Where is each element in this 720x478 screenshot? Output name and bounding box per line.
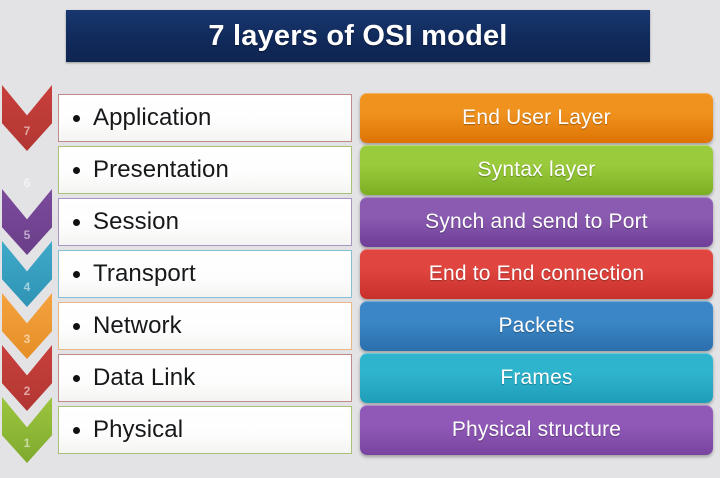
layer-description-label: Syntax layer	[478, 158, 596, 182]
layer-name-plate[interactable]: Physical	[58, 406, 352, 454]
layer-description-label: Frames	[500, 366, 572, 390]
layer-description-pill[interactable]: Physical structure	[360, 405, 713, 455]
layer-name-label: Application	[93, 104, 212, 132]
layer-name-plate[interactable]: Application	[58, 94, 352, 142]
layer-row: 4TransportEnd to End connection	[0, 249, 720, 301]
layer-description-pill[interactable]: Frames	[360, 353, 713, 403]
layer-row: 3NetworkPackets	[0, 301, 720, 353]
layer-name-plate[interactable]: Presentation	[58, 146, 352, 194]
layer-row: 7ApplicationEnd User Layer	[0, 93, 720, 145]
layer-description-label: End to End connection	[429, 262, 645, 286]
bullet-icon	[73, 323, 80, 330]
bullet-icon	[73, 375, 80, 382]
layer-description-label: End User Layer	[462, 106, 611, 130]
layer-name-label: Network	[93, 312, 182, 340]
osi-model-diagram: 7 layers of OSI model 7ApplicationEnd Us…	[0, 0, 720, 478]
layer-description-label: Synch and send to Port	[425, 210, 648, 234]
layer-number: 4	[24, 281, 31, 293]
layer-description-label: Physical structure	[452, 418, 621, 442]
layer-name-label: Presentation	[93, 156, 229, 184]
layer-number: 1	[24, 437, 31, 449]
layer-name-label: Session	[93, 208, 179, 236]
bullet-icon	[73, 167, 80, 174]
layer-name-label: Physical	[93, 416, 183, 444]
layer-name-label: Transport	[93, 260, 196, 288]
layer-description-pill[interactable]: Synch and send to Port	[360, 197, 713, 247]
layer-row: 5SessionSynch and send to Port	[0, 197, 720, 249]
layer-description-label: Packets	[498, 314, 574, 338]
layer-row: 2Data LinkFrames	[0, 353, 720, 405]
layer-row: 1PhysicalPhysical structure	[0, 405, 720, 457]
page-title: 7 layers of OSI model	[208, 20, 507, 53]
layer-row: 6PresentationSyntax layer	[0, 145, 720, 197]
layer-name-plate[interactable]: Network	[58, 302, 352, 350]
layer-number: 3	[24, 333, 31, 345]
bullet-icon	[73, 219, 80, 226]
layer-number: 2	[24, 385, 31, 397]
layer-name-label: Data Link	[93, 364, 195, 392]
layer-name-plate[interactable]: Session	[58, 198, 352, 246]
bullet-icon	[73, 427, 80, 434]
layer-name-plate[interactable]: Data Link	[58, 354, 352, 402]
title-bar: 7 layers of OSI model	[66, 10, 650, 62]
layer-chevron-7: 7	[2, 85, 52, 151]
bullet-icon	[73, 271, 80, 278]
layer-description-pill[interactable]: Syntax layer	[360, 145, 713, 195]
layer-number: 5	[24, 229, 31, 241]
layer-name-plate[interactable]: Transport	[58, 250, 352, 298]
bullet-icon	[73, 115, 80, 122]
layer-description-pill[interactable]: Packets	[360, 301, 713, 351]
layer-description-pill[interactable]: End to End connection	[360, 249, 713, 299]
layer-number: 7	[24, 125, 31, 137]
layer-number: 6	[24, 177, 31, 189]
layer-description-pill[interactable]: End User Layer	[360, 93, 713, 143]
